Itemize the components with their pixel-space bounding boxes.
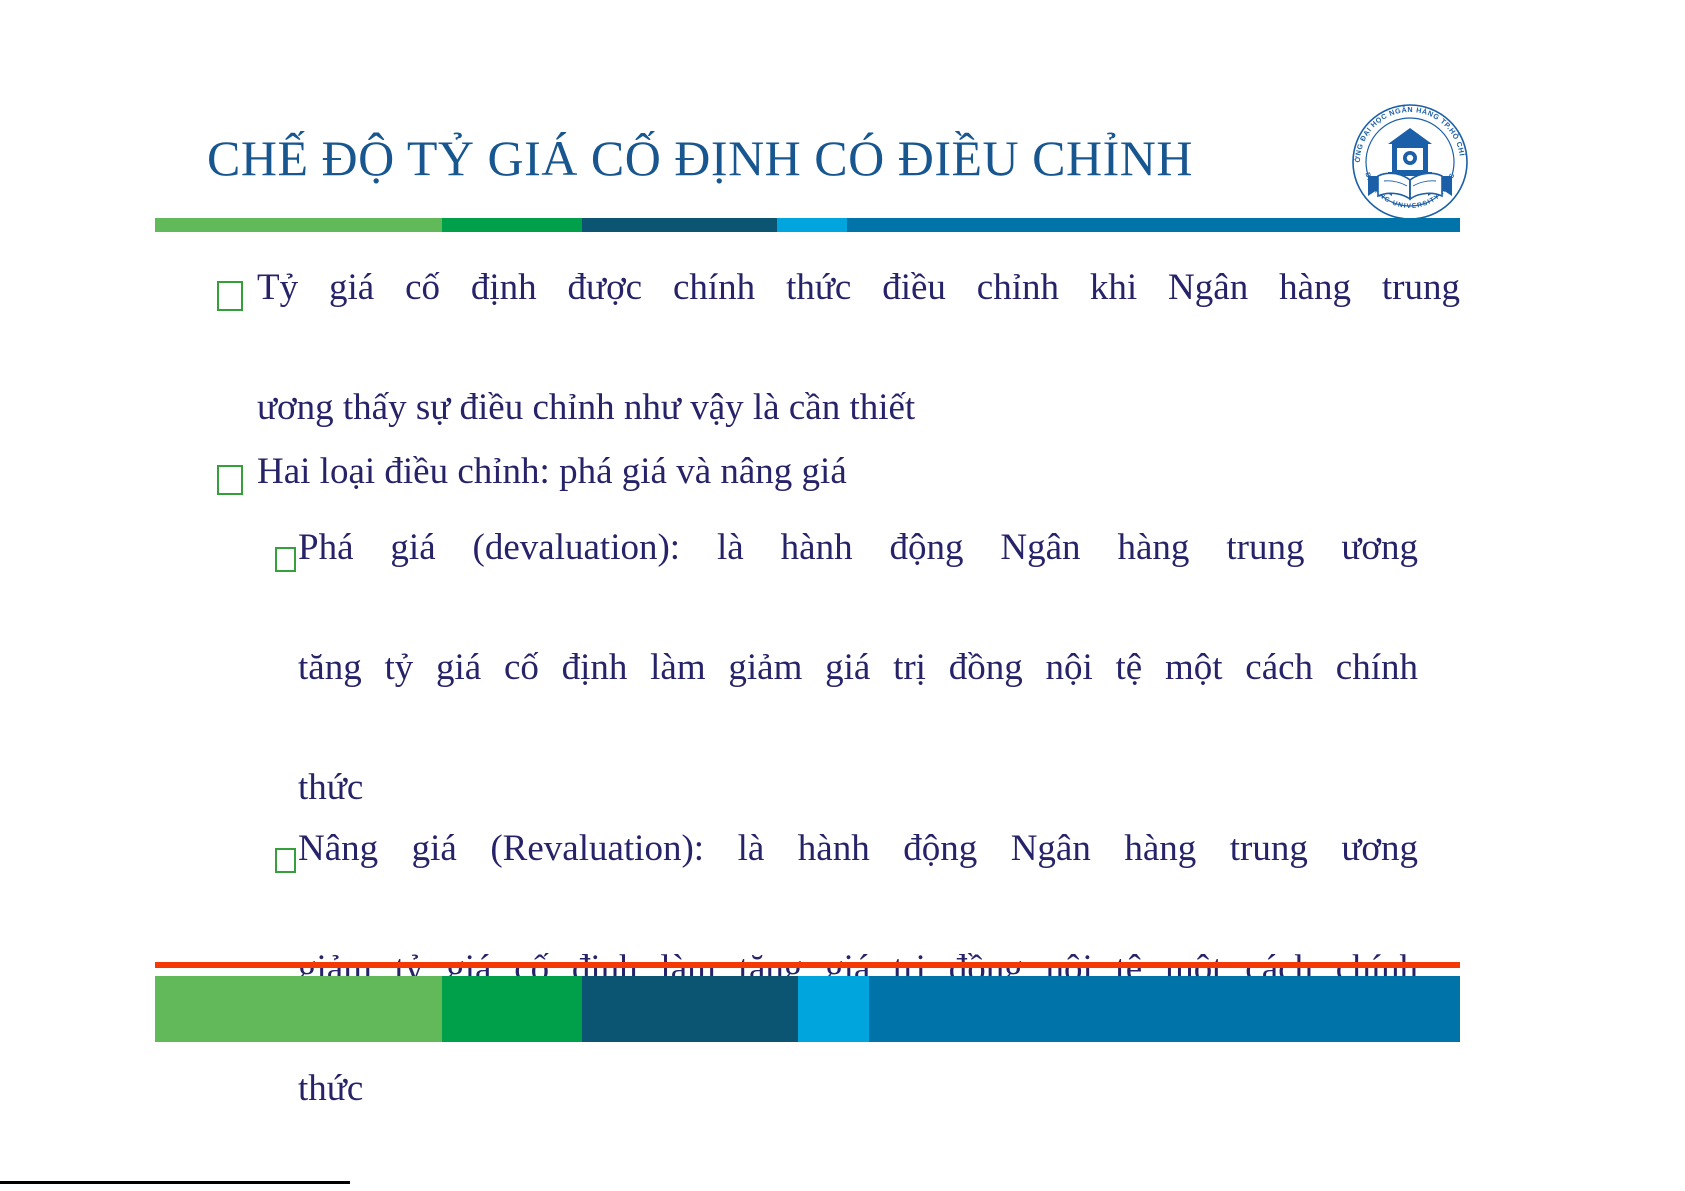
bottom-accent-bar [155,976,1460,1042]
list-item-line: ương thấy sự điều chỉnh như vậy là cần t… [257,378,1460,438]
bullet-square-icon [217,270,243,330]
list-item: Hai loại điều chỉnh: phá giá và nâng giá [155,442,1460,514]
list-item: Tỷ giá cố định được chính thức điều chỉn… [155,258,1460,438]
bullet-square-icon [217,454,243,514]
banking-university-hcmc-logo: TRƯỜNG ĐẠI HỌC NGÂN HÀNG TP.HỒ CHÍ MINH … [1348,100,1472,224]
top-bar-segment-light-green [155,218,442,232]
list-item: Nâng giá (Revaluation): là hành động Ngâ… [155,819,1460,1119]
bottom-bar-segment-light-green [155,976,442,1042]
list-item-line: thức [298,1059,1418,1119]
list-item-text: Tỷ giá cố định được chính thức điều chỉn… [257,258,1460,438]
bullet-square-icon [275,832,296,892]
list-item-line: Tỷ giá cố định được chính thức điều chỉn… [257,258,1460,378]
bottom-bar-segment-blue [869,976,1460,1042]
bottom-bar-segment-dark-teal [582,976,799,1042]
list-item-text: Nâng giá (Revaluation): là hành động Ngâ… [298,819,1418,1119]
top-accent-bar [155,218,1460,232]
list-item-text: Phá giá (devaluation): là hành động Ngân… [298,518,1418,818]
footer-divider [0,1181,350,1184]
top-bar-segment-blue [847,218,1460,232]
list-item-line: Nâng giá (Revaluation): là hành động Ngâ… [298,819,1418,939]
slide: CHẾ ĐỘ TỶ GIÁ CỐ ĐỊNH CÓ ĐIỀU CHỈNH TRƯỜ… [0,0,1685,1191]
bullet-square-icon [275,531,296,591]
list-item-line: Hai loại điều chỉnh: phá giá và nâng giá [257,442,1460,502]
top-bar-segment-cyan [777,218,846,232]
top-bar-segment-green [442,218,582,232]
slide-title-area: CHẾ ĐỘ TỶ GIÁ CỐ ĐỊNH CÓ ĐIỀU CHỈNH [165,118,1235,198]
bottom-bar-segment-green [442,976,582,1042]
list-item-line: thức [298,758,1418,818]
slide-body: Tỷ giá cố định được chính thức điều chỉn… [155,258,1460,958]
list-item-line: Phá giá (devaluation): là hành động Ngân… [298,518,1418,638]
page-title: CHẾ ĐỘ TỶ GIÁ CỐ ĐỊNH CÓ ĐIỀU CHỈNH [207,132,1193,185]
list-item-line: tăng tỷ giá cố định làm giảm giá trị đồn… [298,638,1418,758]
list-item-text: Hai loại điều chỉnh: phá giá và nâng giá [257,442,1460,502]
top-bar-segment-dark-teal [582,218,778,232]
bottom-orange-rule [155,962,1460,968]
list-item: Phá giá (devaluation): là hành động Ngân… [155,518,1460,818]
bottom-bar-segment-cyan [798,976,868,1042]
